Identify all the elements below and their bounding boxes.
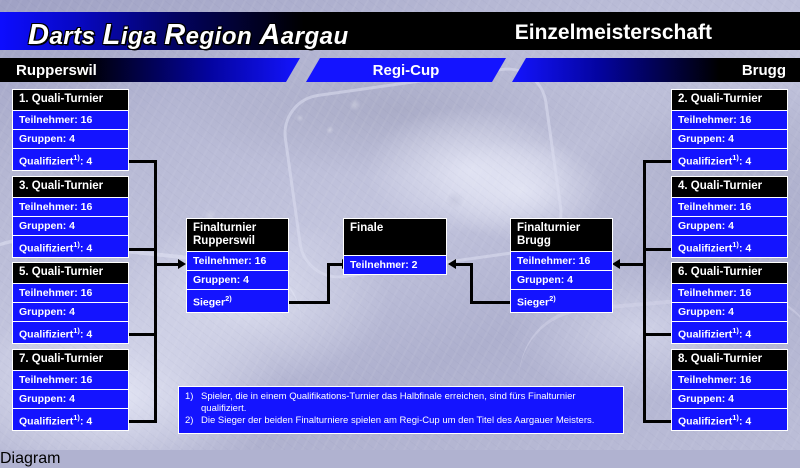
box-row: Qualifiziert1): 4 (672, 235, 787, 258)
box-row: Qualifiziert1): 4 (672, 408, 787, 431)
box-row-label: Qualifiziert (19, 242, 73, 254)
title-capital: A (259, 19, 280, 51)
quali-box-5[interactable]: 5. Quali-TurnierTeilnehmer: 16Gruppen: 4… (12, 262, 129, 344)
connector-line (643, 160, 646, 423)
title-text: iga (121, 23, 164, 50)
box-header: 6. Quali-Turnier (672, 263, 787, 283)
box-row: Teilnehmer: 16 (13, 283, 128, 302)
box-row: Sieger2) (511, 289, 612, 312)
connector-line (643, 248, 672, 251)
box-header: 3. Quali-Turnier (13, 177, 128, 197)
box-header: 8. Quali-Turnier (672, 350, 787, 370)
box-header-line: Brugg (517, 235, 606, 248)
box-row-value: : 4 (80, 242, 92, 254)
box-row: Qualifiziert1): 4 (13, 235, 128, 258)
box-row: Qualifiziert1): 4 (13, 148, 128, 171)
footnote-text: Die Sieger der beiden Finalturniere spie… (201, 415, 617, 427)
footnote-marker: 1) (73, 240, 80, 249)
title-text: argau (281, 23, 349, 50)
title-text: arts (49, 23, 102, 50)
box-row-value: : 4 (739, 155, 751, 167)
connector-line (128, 160, 157, 163)
box-row-label: Qualifiziert (678, 242, 732, 254)
box-row: Gruppen: 4 (511, 270, 612, 289)
arrow-icon (178, 259, 186, 269)
banner-brugg: Brugg (512, 58, 800, 82)
box-row: Gruppen: 4 (13, 389, 128, 408)
box-row: Gruppen: 4 (13, 302, 128, 321)
banner-rupperswil-label: Rupperswil (16, 62, 97, 79)
page-subtitle: Einzelmeisterschaft (515, 21, 712, 45)
footnote-marker: 1) (73, 153, 80, 162)
footnote-number: 1) (185, 391, 201, 414)
box-header-line: Finalturnier (517, 222, 606, 235)
box-row-label: Qualifiziert (678, 415, 732, 427)
connector-line (470, 263, 473, 304)
box-row: Gruppen: 4 (13, 216, 128, 235)
quali-box-3[interactable]: 3. Quali-TurnierTeilnehmer: 16Gruppen: 4… (12, 176, 129, 258)
box-row: Gruppen: 4 (672, 389, 787, 408)
banner-rupperswil: Rupperswil (0, 58, 300, 82)
box-row-label: Qualifiziert (678, 155, 732, 167)
box-row: Teilnehmer: 16 (13, 197, 128, 216)
banner-brugg-label: Brugg (742, 62, 786, 79)
finale-box[interactable]: FinaleTeilnehmer: 2 (343, 218, 447, 275)
connector-line (643, 420, 672, 423)
title-bar: Darts Liga Region Aargau Einzelmeistersc… (0, 12, 800, 50)
box-header: 5. Quali-Turnier (13, 263, 128, 283)
footnote-marker: 1) (732, 240, 739, 249)
final-tournament-brugg[interactable]: FinalturnierBruggTeilnehmer: 16Gruppen: … (510, 218, 613, 313)
box-row: Teilnehmer: 16 (672, 197, 787, 216)
box-header: 1. Quali-Turnier (13, 90, 128, 110)
title-text: egion (186, 23, 260, 50)
box-row-value: : 4 (80, 415, 92, 427)
box-header-line: Rupperswil (193, 235, 282, 248)
footnote-marker: 1) (732, 413, 739, 422)
box-header: 2. Quali-Turnier (672, 90, 787, 110)
footnote-item: 2) Die Sieger der beiden Finalturniere s… (185, 415, 617, 427)
quali-box-1[interactable]: 1. Quali-TurnierTeilnehmer: 16Gruppen: 4… (12, 89, 129, 171)
box-row-value: : 4 (80, 155, 92, 167)
footnote-number: 2) (185, 415, 201, 427)
connector-line (128, 248, 157, 251)
box-row-value: : 4 (739, 242, 751, 254)
box-row: Teilnehmer: 2 (344, 255, 446, 274)
box-header: FinalturnierBrugg (511, 219, 612, 251)
box-header: 7. Quali-Turnier (13, 350, 128, 370)
connector-line (154, 160, 157, 423)
footnotes-panel: 1) Spieler, die in einem Qualifikations-… (178, 386, 624, 434)
box-row: Gruppen: 4 (13, 129, 128, 148)
footnote-marker: 2) (225, 294, 232, 303)
footnote-item: 1) Spieler, die in einem Qualifikations-… (185, 391, 617, 414)
page-title: Darts Liga Region Aargau (28, 19, 349, 52)
connector-line (470, 301, 512, 304)
box-row: Teilnehmer: 16 (187, 251, 288, 270)
box-row: Teilnehmer: 16 (672, 283, 787, 302)
poster-root: Darts Liga Region Aargau Einzelmeistersc… (0, 0, 800, 450)
connector-line (128, 420, 157, 423)
box-header-line: Finalturnier (193, 222, 282, 235)
box-row-label: Qualifiziert (19, 155, 73, 167)
arrow-icon (448, 259, 456, 269)
box-row-value: : 4 (739, 328, 751, 340)
box-header: FinalturnierRupperswil (187, 219, 288, 251)
box-row: Teilnehmer: 16 (672, 110, 787, 129)
footnote-text: Spieler, die in einem Qualifikations-Tur… (201, 391, 617, 414)
quali-box-4[interactable]: 4. Quali-TurnierTeilnehmer: 16Gruppen: 4… (671, 176, 788, 258)
box-row: Sieger2) (187, 289, 288, 312)
final-tournament-rupperswil[interactable]: FinalturnierRupperswilTeilnehmer: 16Grup… (186, 218, 289, 313)
box-row-label: Qualifiziert (19, 328, 73, 340)
banner-regi-cup: Regi-Cup (306, 58, 506, 82)
box-row: Qualifiziert1): 4 (672, 321, 787, 344)
box-row: Teilnehmer: 16 (672, 370, 787, 389)
connector-line (327, 263, 330, 304)
box-row: Gruppen: 4 (187, 270, 288, 289)
quali-box-6[interactable]: 6. Quali-TurnierTeilnehmer: 16Gruppen: 4… (671, 262, 788, 344)
box-row: Qualifiziert1): 4 (672, 148, 787, 171)
footnote-marker: 1) (73, 326, 80, 335)
connector-line (154, 263, 180, 266)
box-row: Gruppen: 4 (672, 302, 787, 321)
box-row: Qualifiziert1): 4 (13, 408, 128, 431)
connector-line (456, 263, 473, 266)
box-row-label: Sieger (193, 297, 225, 309)
connector-line (620, 263, 646, 266)
box-row-value: : 4 (80, 328, 92, 340)
connector-line (643, 160, 672, 163)
quali-box-2[interactable]: 2. Quali-TurnierTeilnehmer: 16Gruppen: 4… (671, 89, 788, 171)
box-row-label: Qualifiziert (19, 415, 73, 427)
arrow-icon (612, 259, 620, 269)
box-row: Teilnehmer: 16 (511, 251, 612, 270)
box-row: Gruppen: 4 (672, 129, 787, 148)
box-row: Gruppen: 4 (672, 216, 787, 235)
connector-line (128, 333, 157, 336)
footnote-marker: 1) (732, 326, 739, 335)
connector-line (288, 301, 330, 304)
title-capital: D (28, 19, 49, 51)
footnote-marker: 1) (732, 153, 739, 162)
box-row: Teilnehmer: 16 (13, 110, 128, 129)
connector-line (643, 333, 672, 336)
box-row-label: Sieger (517, 297, 549, 309)
box-row-label: Qualifiziert (678, 328, 732, 340)
box-header: 4. Quali-Turnier (672, 177, 787, 197)
box-row: Qualifiziert1): 4 (13, 321, 128, 344)
box-header: Finale (344, 219, 446, 255)
title-capital: R (164, 19, 185, 51)
banner-regi-cup-label: Regi-Cup (373, 62, 440, 79)
quali-box-7[interactable]: 7. Quali-TurnierTeilnehmer: 16Gruppen: 4… (12, 349, 129, 431)
box-row: Teilnehmer: 16 (13, 370, 128, 389)
title-capital: L (103, 19, 121, 51)
footnote-marker: 1) (73, 413, 80, 422)
footnote-marker: 2) (549, 294, 556, 303)
box-row-value: : 4 (739, 415, 751, 427)
quali-box-8[interactable]: 8. Quali-TurnierTeilnehmer: 16Gruppen: 4… (671, 349, 788, 431)
